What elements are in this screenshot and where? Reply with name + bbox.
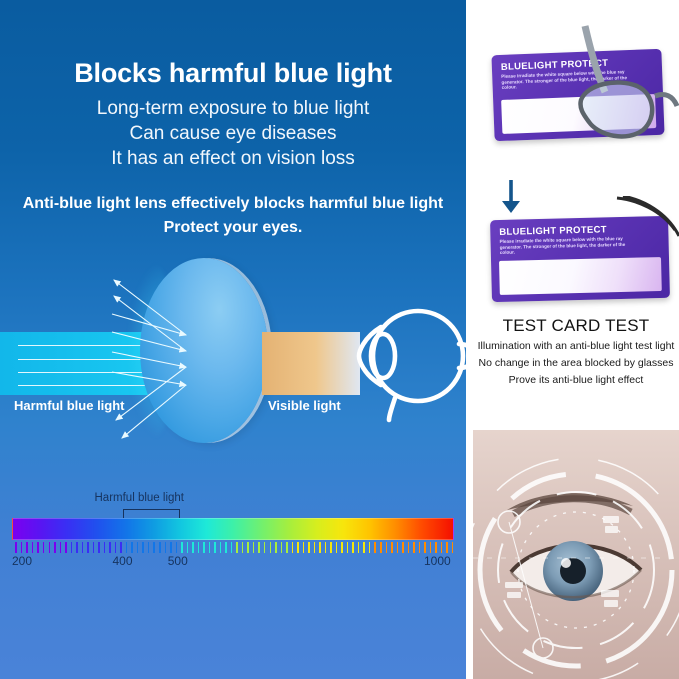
spectrum-bracket [123, 509, 180, 518]
test-card-caption: TEST CARD TEST Illumination with an anti… [473, 316, 679, 387]
caption-line-2: No change in the area blocked by glasses [473, 356, 679, 370]
spectrum-gradient-bar [12, 518, 454, 540]
spectrum-tick [225, 542, 227, 553]
test-card-top: BLUELIGHT PROTECT Please irradiate the w… [491, 49, 664, 141]
test-card-bottom: BLUELIGHT PROTECT Please irradiate the w… [490, 216, 670, 302]
spectrum-tick [297, 542, 299, 553]
spectrum-tick [231, 542, 233, 553]
spectrum-tick [87, 542, 89, 553]
spectrum-tick [43, 542, 45, 553]
spectrum-tick [137, 542, 139, 553]
spectrum-tick [397, 542, 399, 553]
spectrum-tick [347, 542, 349, 553]
spectrum-tick [446, 542, 448, 553]
caption-line-1: Illumination with an anti-blue light tes… [473, 339, 679, 353]
spectrum-ticks [12, 542, 454, 554]
test-card-white-square-2 [499, 257, 662, 295]
spectrum-tick [374, 542, 376, 553]
spectrum-tick [236, 542, 238, 553]
optical-diagram: Harmful blue light Visible light [0, 248, 466, 448]
spectrum-tick [258, 542, 260, 553]
panel-divider-vertical [466, 0, 473, 679]
spectrum-tick [148, 542, 150, 553]
visible-light-band [262, 332, 360, 395]
spectrum-axis-labels: 2004005001000 [12, 554, 454, 570]
spectrum-tick [165, 542, 167, 553]
spectrum-tick [159, 542, 161, 553]
spectrum-tick [203, 542, 205, 553]
spectrum-tick [253, 542, 255, 553]
spectrum-tick [15, 542, 17, 553]
spectrum-tick [65, 542, 67, 553]
visible-light-label: Visible light [268, 398, 341, 413]
spectrum-tick [71, 542, 73, 553]
subtitle-line-1: Long-term exposure to blue light [0, 96, 466, 121]
harmful-blue-light-label: Harmful blue light [14, 398, 125, 413]
subtitle-block: Long-term exposure to blue light Can cau… [0, 96, 466, 171]
test-card-white-square [501, 94, 656, 134]
spectrum-tick [352, 542, 354, 553]
spectrum-tick [126, 542, 128, 553]
spectrum-tick [413, 542, 415, 553]
spectrum-tick [49, 542, 51, 553]
spectrum-tick [391, 542, 393, 553]
spectrum-tick [93, 542, 95, 553]
spectrum-tick [402, 542, 404, 553]
spectrum-chart: Harmful blue light 2004005001000 [12, 492, 454, 572]
page-title: Blocks harmful blue light [0, 58, 466, 89]
spectrum-axis-label: 500 [168, 554, 188, 568]
spectrum-tick [408, 542, 410, 553]
spectrum-tick [363, 542, 365, 553]
eye-scan-photo [473, 430, 679, 679]
spectrum-tick [441, 542, 443, 553]
spectrum-tick [308, 542, 310, 553]
spectrum-tick [98, 542, 100, 553]
spectrum-tick [176, 542, 178, 553]
spectrum-tick [286, 542, 288, 553]
eye-illustration [473, 430, 679, 679]
spectrum-tick [435, 542, 437, 553]
spectrum-tick [380, 542, 382, 553]
spectrum-bracket-label: Harmful blue light [95, 492, 184, 504]
test-card-photo-area: BLUELIGHT PROTECT Please irradiate the w… [473, 0, 679, 312]
spectrum-tick [76, 542, 78, 553]
spectrum-tick [153, 542, 155, 553]
spectrum-tick [209, 542, 211, 553]
spectrum-axis-label: 1000 [424, 554, 451, 568]
spectrum-tick [341, 542, 343, 553]
spectrum-tick [181, 542, 183, 553]
spectrum-tick [170, 542, 172, 553]
spectrum-axis-label: 200 [12, 554, 32, 568]
subtitle-line-3: It has an effect on vision loss [0, 146, 466, 171]
spectrum-tick [21, 542, 23, 553]
spectrum-tick [142, 542, 144, 553]
spectrum-tick [131, 542, 133, 553]
spectrum-tick [104, 542, 106, 553]
left-feature-panel: Blocks harmful blue light Long-term expo… [0, 0, 466, 679]
caption-line-3: Prove its anti-blue light effect [473, 373, 679, 387]
spectrum-tick [358, 542, 360, 553]
spectrum-tick [242, 542, 244, 553]
spectrum-tick [292, 542, 294, 553]
spectrum-tick [281, 542, 283, 553]
spectrum-tick [325, 542, 327, 553]
spectrum-tick [452, 542, 454, 553]
spectrum-tick [386, 542, 388, 553]
caption-heading: TEST CARD TEST [473, 316, 679, 336]
spectrum-tick [120, 542, 122, 553]
spectrum-axis-label: 400 [113, 554, 133, 568]
spectrum-tick [26, 542, 28, 553]
spectrum-tick [336, 542, 338, 553]
eyeball-outline-icon [355, 286, 466, 426]
spectrum-tick [424, 542, 426, 553]
spectrum-tick [32, 542, 34, 553]
spectrum-tick [187, 542, 189, 553]
spectrum-tick [115, 542, 117, 553]
claim-block: Anti-blue light lens effectively blocks … [0, 192, 466, 240]
claim-line-1: Anti-blue light lens effectively blocks … [0, 192, 466, 216]
spectrum-tick [109, 542, 111, 553]
test-card-body-2: Please irradiate the white square below … [499, 236, 639, 256]
spectrum-tick [247, 542, 249, 553]
spectrum-tick [303, 542, 305, 553]
spectrum-tick [54, 542, 56, 553]
spectrum-tick [419, 542, 421, 553]
spectrum-tick [430, 542, 432, 553]
spectrum-tick [60, 542, 62, 553]
down-arrow-icon [498, 178, 524, 214]
spectrum-tick [264, 542, 266, 553]
spectrum-tick [270, 542, 272, 553]
right-column: BLUELIGHT PROTECT Please irradiate the w… [473, 0, 679, 679]
spectrum-tick [192, 542, 194, 553]
spectrum-tick [37, 542, 39, 553]
subtitle-line-2: Can cause eye diseases [0, 121, 466, 146]
spectrum-tick [319, 542, 321, 553]
product-infographic: Blocks harmful blue light Long-term expo… [0, 0, 679, 679]
spectrum-tick [275, 542, 277, 553]
spectrum-tick [220, 542, 222, 553]
spectrum-tick [330, 542, 332, 553]
spectrum-tick [214, 542, 216, 553]
claim-line-2: Protect your eyes. [0, 216, 466, 240]
spectrum-tick [82, 542, 84, 553]
spectrum-tick [314, 542, 316, 553]
spectrum-tick [198, 542, 200, 553]
spectrum-tick [369, 542, 371, 553]
